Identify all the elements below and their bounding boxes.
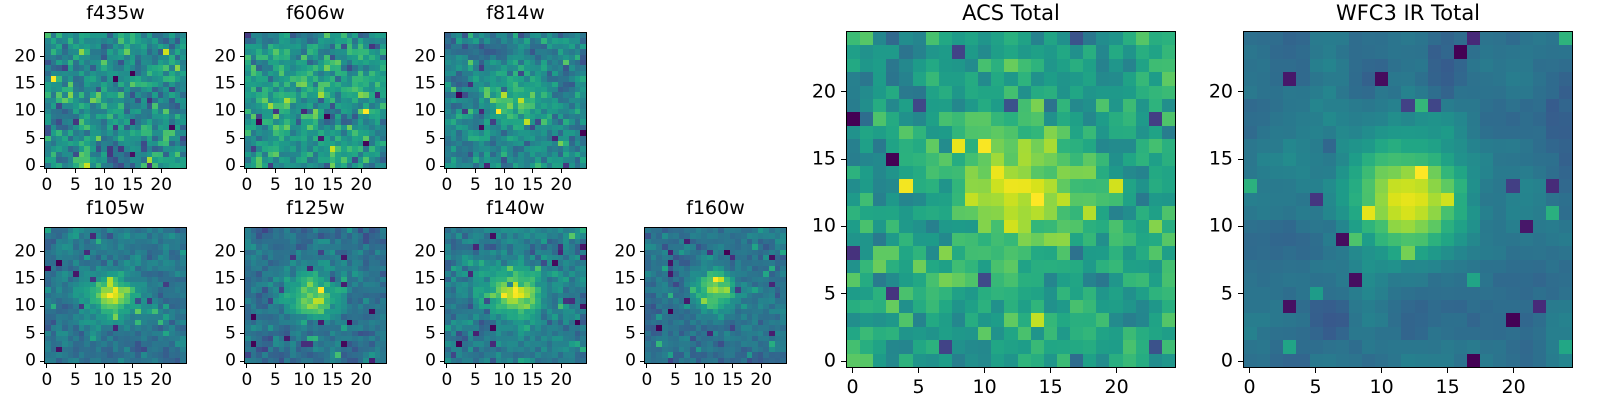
x-tick-mark: [532, 169, 533, 173]
y-tick-label: 15: [596, 271, 636, 288]
y-tick-mark: [440, 333, 444, 334]
y-tick-mark: [40, 279, 44, 280]
heatmap-axes-acs_total: [846, 31, 1176, 368]
heatmap-axes-f606w: [244, 32, 387, 169]
y-tick-mark: [1238, 361, 1243, 362]
y-tick-label: 15: [0, 76, 36, 93]
x-tick-label: 5: [270, 177, 281, 194]
y-tick-mark: [841, 159, 846, 160]
y-tick-mark: [841, 226, 846, 227]
heatmap-image-f435w: [45, 33, 186, 168]
panel-title-f160w: f160w: [644, 199, 787, 218]
x-tick-mark: [761, 364, 762, 368]
x-tick-label: 10: [93, 372, 115, 389]
y-tick-mark: [1238, 91, 1243, 92]
y-tick-mark: [841, 361, 846, 362]
x-tick-mark: [304, 364, 305, 368]
panel-f814w: f814w0510152005101520: [400, 0, 596, 190]
panel-f435w: f435w0510152005101520: [0, 0, 196, 190]
x-tick-label: 10: [693, 372, 715, 389]
y-tick-label: 5: [396, 130, 436, 147]
x-tick-mark: [361, 169, 362, 173]
x-tick-label: 5: [1310, 378, 1322, 397]
y-tick-label: 0: [0, 353, 36, 370]
y-tick-mark: [240, 251, 244, 252]
x-tick-label: 5: [470, 177, 481, 194]
y-tick-mark: [40, 166, 44, 167]
y-tick-label: 10: [796, 217, 836, 236]
y-tick-label: 0: [1193, 352, 1233, 371]
x-tick-mark: [646, 364, 647, 368]
x-tick-label: 0: [241, 372, 252, 389]
panel-acs_total: ACS Total0510152005101520: [786, 0, 1191, 399]
x-tick-label: 20: [550, 177, 572, 194]
x-tick-mark: [304, 169, 305, 173]
x-tick-mark: [475, 364, 476, 368]
heatmap-image-f125w: [245, 228, 386, 363]
heatmap-axes-f160w: [644, 227, 787, 364]
y-tick-mark: [40, 111, 44, 112]
panel-title-acs_total: ACS Total: [846, 3, 1176, 24]
x-tick-mark: [332, 169, 333, 173]
y-tick-label: 0: [796, 352, 836, 371]
y-tick-label: 10: [396, 298, 436, 315]
panel-wfc3_total: WFC3 IR Total0510152005101520: [1183, 0, 1588, 399]
panel-title-f105w: f105w: [44, 199, 187, 218]
x-tick-label: 0: [41, 372, 52, 389]
x-tick-label: 0: [1244, 378, 1256, 397]
y-tick-label: 15: [396, 76, 436, 93]
y-tick-mark: [40, 138, 44, 139]
y-tick-label: 0: [396, 158, 436, 175]
x-tick-label: 10: [973, 378, 997, 397]
y-tick-label: 10: [396, 103, 436, 120]
x-tick-mark: [161, 364, 162, 368]
x-tick-label: 20: [1105, 378, 1129, 397]
y-tick-mark: [640, 251, 644, 252]
x-tick-label: 20: [350, 177, 372, 194]
y-tick-mark: [240, 279, 244, 280]
y-tick-label: 15: [796, 150, 836, 169]
y-tick-label: 0: [196, 353, 236, 370]
x-tick-label: 10: [1370, 378, 1394, 397]
y-tick-label: 15: [0, 271, 36, 288]
x-tick-label: 0: [641, 372, 652, 389]
y-tick-label: 10: [0, 298, 36, 315]
y-tick-label: 5: [0, 325, 36, 342]
x-tick-label: 20: [1502, 378, 1526, 397]
y-tick-mark: [440, 111, 444, 112]
y-tick-label: 10: [1193, 217, 1233, 236]
x-tick-mark: [475, 169, 476, 173]
x-tick-label: 15: [122, 372, 144, 389]
panel-f105w: f105w0510152005101520: [0, 195, 196, 385]
x-tick-label: 0: [241, 177, 252, 194]
x-tick-label: 20: [750, 372, 772, 389]
y-tick-label: 10: [196, 103, 236, 120]
heatmap-image-f160w: [645, 228, 786, 363]
y-tick-mark: [240, 138, 244, 139]
y-tick-mark: [440, 84, 444, 85]
heatmap-axes-f105w: [44, 227, 187, 364]
x-tick-mark: [1116, 368, 1117, 373]
y-tick-label: 20: [196, 48, 236, 65]
y-tick-label: 20: [196, 243, 236, 260]
x-tick-label: 15: [722, 372, 744, 389]
heatmap-axes-f435w: [44, 32, 187, 169]
y-tick-label: 0: [596, 353, 636, 370]
y-tick-mark: [440, 251, 444, 252]
heatmap-image-acs_total: [847, 32, 1175, 367]
x-tick-mark: [104, 364, 105, 368]
x-tick-mark: [1249, 368, 1250, 373]
y-tick-label: 20: [396, 48, 436, 65]
y-tick-mark: [440, 279, 444, 280]
y-tick-mark: [841, 91, 846, 92]
x-tick-mark: [446, 364, 447, 368]
y-tick-label: 15: [396, 271, 436, 288]
x-tick-mark: [332, 364, 333, 368]
x-tick-label: 20: [350, 372, 372, 389]
y-tick-mark: [440, 166, 444, 167]
x-tick-label: 15: [1436, 378, 1460, 397]
x-tick-mark: [704, 364, 705, 368]
y-tick-mark: [240, 56, 244, 57]
y-tick-mark: [40, 56, 44, 57]
y-tick-mark: [841, 293, 846, 294]
y-tick-label: 20: [796, 82, 836, 101]
x-tick-label: 15: [322, 177, 344, 194]
heatmap-image-wfc3_total: [1244, 32, 1572, 367]
x-tick-mark: [104, 169, 105, 173]
y-tick-mark: [240, 111, 244, 112]
x-tick-mark: [246, 169, 247, 173]
y-tick-label: 20: [396, 243, 436, 260]
panel-f160w: f160w0510152005101520: [600, 195, 796, 385]
x-tick-label: 5: [270, 372, 281, 389]
panel-f125w: f125w0510152005101520: [200, 195, 396, 385]
panel-title-f606w: f606w: [244, 4, 387, 23]
x-tick-label: 5: [70, 177, 81, 194]
x-tick-label: 10: [293, 177, 315, 194]
x-tick-mark: [132, 364, 133, 368]
y-tick-label: 10: [196, 298, 236, 315]
heatmap-axes-f125w: [244, 227, 387, 364]
x-tick-mark: [46, 364, 47, 368]
y-tick-label: 10: [596, 298, 636, 315]
x-tick-mark: [1447, 368, 1448, 373]
x-tick-mark: [918, 368, 919, 373]
x-tick-label: 15: [1039, 378, 1063, 397]
heatmap-axes-wfc3_total: [1243, 31, 1573, 368]
y-tick-mark: [240, 361, 244, 362]
x-tick-mark: [75, 169, 76, 173]
panel-title-wfc3_total: WFC3 IR Total: [1243, 3, 1573, 24]
x-tick-label: 5: [670, 372, 681, 389]
y-tick-mark: [40, 306, 44, 307]
y-tick-label: 20: [1193, 82, 1233, 101]
x-tick-label: 5: [70, 372, 81, 389]
y-tick-label: 20: [596, 243, 636, 260]
y-tick-label: 15: [196, 271, 236, 288]
y-tick-mark: [40, 251, 44, 252]
y-tick-label: 20: [0, 243, 36, 260]
y-tick-mark: [640, 361, 644, 362]
x-tick-mark: [1050, 368, 1051, 373]
y-tick-mark: [640, 333, 644, 334]
x-tick-label: 0: [847, 378, 859, 397]
x-tick-mark: [275, 364, 276, 368]
panel-f606w: f606w0510152005101520: [200, 0, 396, 190]
y-tick-mark: [240, 306, 244, 307]
x-tick-mark: [532, 364, 533, 368]
x-tick-label: 20: [150, 372, 172, 389]
y-tick-label: 5: [796, 284, 836, 303]
y-tick-mark: [40, 361, 44, 362]
x-tick-label: 0: [441, 372, 452, 389]
x-tick-mark: [852, 368, 853, 373]
panel-title-f814w: f814w: [444, 4, 587, 23]
x-tick-mark: [1315, 368, 1316, 373]
x-tick-mark: [46, 169, 47, 173]
y-tick-mark: [440, 306, 444, 307]
heatmap-image-f105w: [45, 228, 186, 363]
y-tick-label: 5: [0, 130, 36, 147]
y-tick-label: 0: [196, 158, 236, 175]
x-tick-label: 5: [913, 378, 925, 397]
x-tick-mark: [675, 364, 676, 368]
x-tick-mark: [561, 364, 562, 368]
y-tick-label: 5: [596, 325, 636, 342]
x-tick-label: 15: [322, 372, 344, 389]
y-tick-mark: [1238, 293, 1243, 294]
y-tick-mark: [1238, 159, 1243, 160]
x-tick-mark: [132, 169, 133, 173]
x-tick-mark: [1513, 368, 1514, 373]
x-tick-label: 0: [441, 177, 452, 194]
heatmap-image-f814w: [445, 33, 586, 168]
y-tick-mark: [1238, 226, 1243, 227]
y-tick-label: 0: [396, 353, 436, 370]
heatmap-image-f140w: [445, 228, 586, 363]
y-tick-label: 15: [1193, 150, 1233, 169]
x-tick-label: 15: [522, 177, 544, 194]
x-tick-mark: [732, 364, 733, 368]
heatmap-image-f606w: [245, 33, 386, 168]
x-tick-label: 15: [122, 177, 144, 194]
y-tick-label: 5: [196, 325, 236, 342]
panel-title-f435w: f435w: [44, 4, 187, 23]
x-tick-label: 10: [493, 372, 515, 389]
y-tick-mark: [40, 333, 44, 334]
x-tick-label: 10: [93, 177, 115, 194]
y-tick-label: 20: [0, 48, 36, 65]
y-tick-label: 5: [1193, 284, 1233, 303]
y-tick-mark: [440, 138, 444, 139]
x-tick-mark: [984, 368, 985, 373]
y-tick-mark: [640, 306, 644, 307]
x-tick-mark: [504, 169, 505, 173]
y-tick-label: 15: [196, 76, 236, 93]
y-tick-mark: [440, 56, 444, 57]
x-tick-mark: [446, 169, 447, 173]
x-tick-mark: [1381, 368, 1382, 373]
y-tick-mark: [240, 333, 244, 334]
x-tick-mark: [504, 364, 505, 368]
x-tick-label: 10: [293, 372, 315, 389]
x-tick-mark: [275, 169, 276, 173]
x-tick-mark: [75, 364, 76, 368]
y-tick-mark: [440, 361, 444, 362]
panel-title-f140w: f140w: [444, 199, 587, 218]
y-tick-label: 0: [0, 158, 36, 175]
heatmap-axes-f140w: [444, 227, 587, 364]
y-tick-label: 5: [196, 130, 236, 147]
y-tick-label: 10: [0, 103, 36, 120]
panel-f140w: f140w0510152005101520: [400, 195, 596, 385]
panel-title-f125w: f125w: [244, 199, 387, 218]
y-tick-mark: [240, 166, 244, 167]
x-tick-mark: [246, 364, 247, 368]
x-tick-label: 15: [522, 372, 544, 389]
x-tick-mark: [361, 364, 362, 368]
y-tick-mark: [240, 84, 244, 85]
y-tick-label: 5: [396, 325, 436, 342]
heatmap-axes-f814w: [444, 32, 587, 169]
x-tick-mark: [161, 169, 162, 173]
figure-canvas: f435w0510152005101520f606w05101520051015…: [0, 0, 1600, 400]
x-tick-label: 5: [470, 372, 481, 389]
x-tick-label: 20: [150, 177, 172, 194]
x-tick-label: 10: [493, 177, 515, 194]
x-tick-label: 20: [550, 372, 572, 389]
y-tick-mark: [40, 84, 44, 85]
y-tick-mark: [640, 279, 644, 280]
x-tick-mark: [561, 169, 562, 173]
x-tick-label: 0: [41, 177, 52, 194]
